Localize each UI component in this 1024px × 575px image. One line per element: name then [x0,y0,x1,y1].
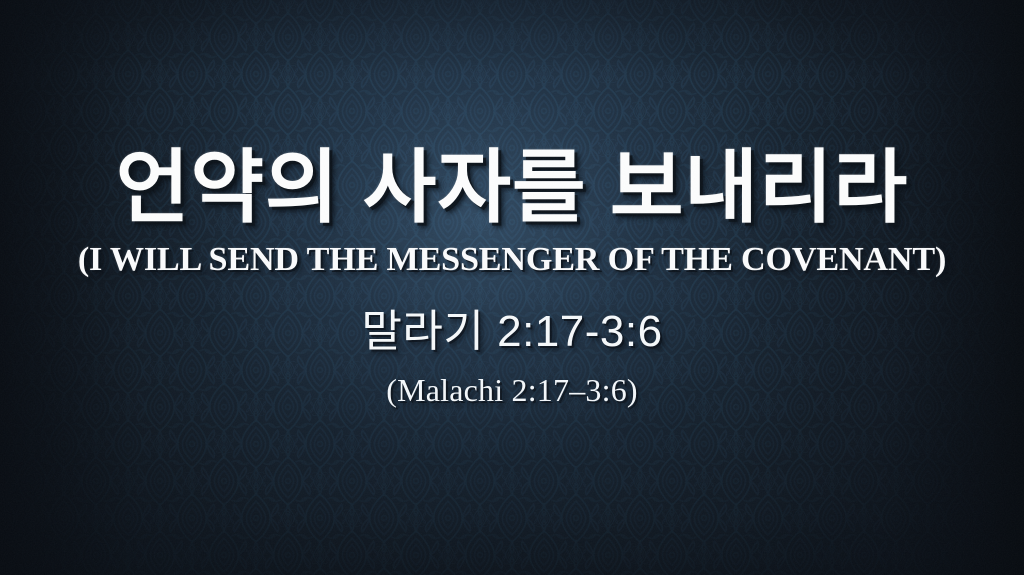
slide-title-english: (I WILL SEND THE MESSENGER OF THE COVENA… [0,243,1024,277]
slide-text-block: 언약의 사자를 보내리라 (I WILL SEND THE MESSENGER … [0,0,1024,575]
scripture-reference-english: (Malachi 2:17–3:6) [0,374,1024,406]
scripture-reference-korean: 말라기 2:17-3:6 [0,310,1024,354]
presentation-slide: 언약의 사자를 보내리라 (I WILL SEND THE MESSENGER … [0,0,1024,575]
slide-title-korean: 언약의 사자를 보내리라 [0,148,1024,228]
